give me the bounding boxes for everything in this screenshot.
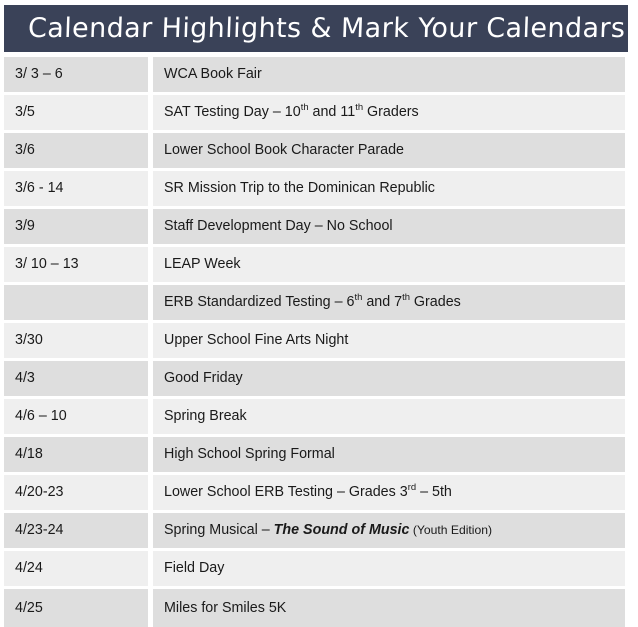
row-date: 3/ 10 – 13: [4, 247, 153, 285]
row-event: SAT Testing Day – 10th and 11th Graders: [153, 95, 625, 133]
table-row: 3/30 Upper School Fine Arts Night: [4, 323, 625, 361]
table-row: 3/5 SAT Testing Day – 10th and 11th Grad…: [4, 95, 625, 133]
row-date: 4/6 – 10: [4, 399, 153, 437]
table-row: ERB Standardized Testing – 6th and 7th G…: [4, 285, 625, 323]
row-date: 3/30: [4, 323, 153, 361]
event-text-mid: and 11: [309, 104, 356, 120]
table-row: 3/9 Staff Development Day – No School: [4, 209, 625, 247]
row-date: 3/5: [4, 95, 153, 133]
event-text-prefix: SAT Testing Day – 10: [164, 104, 301, 120]
table-row: 4/18 High School Spring Formal: [4, 437, 625, 475]
row-date: 4/24: [4, 551, 153, 589]
calendar-highlights-page: Calendar Highlights & Mark Your Calendar…: [0, 0, 638, 623]
row-date: [4, 285, 153, 323]
row-event: LEAP Week: [153, 247, 625, 285]
row-date: 4/3: [4, 361, 153, 399]
row-date: 4/25: [4, 589, 153, 627]
table-row: 4/3 Good Friday: [4, 361, 625, 399]
musical-title: The Sound of Music: [274, 522, 410, 538]
event-text-prefix: Lower School ERB Testing – Grades 3: [164, 484, 408, 500]
table-row: 4/20-23 Lower School ERB Testing – Grade…: [4, 475, 625, 513]
row-event: Staff Development Day – No School: [153, 209, 625, 247]
table-row: 3/6 - 14 SR Mission Trip to the Dominica…: [4, 171, 625, 209]
row-event: Upper School Fine Arts Night: [153, 323, 625, 361]
table-row: 4/23-24 Spring Musical – The Sound of Mu…: [4, 513, 625, 551]
event-text-mid: and 7: [362, 294, 402, 310]
row-event: Miles for Smiles 5K: [153, 589, 625, 627]
row-date: 3/ 3 – 6: [4, 57, 153, 95]
row-event: Spring Musical – The Sound of Music (You…: [153, 513, 625, 551]
page-title-banner: Calendar Highlights & Mark Your Calendar…: [4, 5, 628, 52]
ordinal-suffix: th: [301, 102, 309, 113]
table-row: 4/6 – 10 Spring Break: [4, 399, 625, 437]
event-text-suffix: Graders: [363, 104, 419, 120]
table-row: 3/ 10 – 13 LEAP Week: [4, 247, 625, 285]
table-row: 4/25 Miles for Smiles 5K: [4, 589, 625, 627]
ordinal-suffix: rd: [408, 482, 416, 493]
ordinal-suffix: th: [355, 102, 363, 113]
row-event: Spring Break: [153, 399, 625, 437]
calendar-table: 3/ 3 – 6 WCA Book Fair 3/5 SAT Testing D…: [4, 57, 625, 627]
page-title: Calendar Highlights & Mark Your Calendar…: [28, 15, 626, 42]
row-date: 3/9: [4, 209, 153, 247]
row-event: SR Mission Trip to the Dominican Republi…: [153, 171, 625, 209]
ordinal-suffix: th: [402, 292, 410, 303]
event-text-suffix: – 5th: [416, 484, 452, 500]
row-date: 3/6: [4, 133, 153, 171]
event-text-prefix: Spring Musical –: [164, 522, 274, 538]
row-date: 3/6 - 14: [4, 171, 153, 209]
row-event: High School Spring Formal: [153, 437, 625, 475]
event-text-prefix: ERB Standardized Testing – 6: [164, 294, 354, 310]
row-event: Lower School ERB Testing – Grades 3rd – …: [153, 475, 625, 513]
table-row: 3/6 Lower School Book Character Parade: [4, 133, 625, 171]
row-event: Good Friday: [153, 361, 625, 399]
event-text-note: (Youth Edition): [409, 523, 492, 537]
event-text-suffix: Grades: [410, 294, 461, 310]
row-date: 4/18: [4, 437, 153, 475]
row-event: ERB Standardized Testing – 6th and 7th G…: [153, 285, 625, 323]
row-date: 4/23-24: [4, 513, 153, 551]
row-event: Lower School Book Character Parade: [153, 133, 625, 171]
row-event: WCA Book Fair: [153, 57, 625, 95]
row-event: Field Day: [153, 551, 625, 589]
row-date: 4/20-23: [4, 475, 153, 513]
table-row: 4/24 Field Day: [4, 551, 625, 589]
calendar-table-body: 3/ 3 – 6 WCA Book Fair 3/5 SAT Testing D…: [4, 57, 625, 627]
table-row: 3/ 3 – 6 WCA Book Fair: [4, 57, 625, 95]
